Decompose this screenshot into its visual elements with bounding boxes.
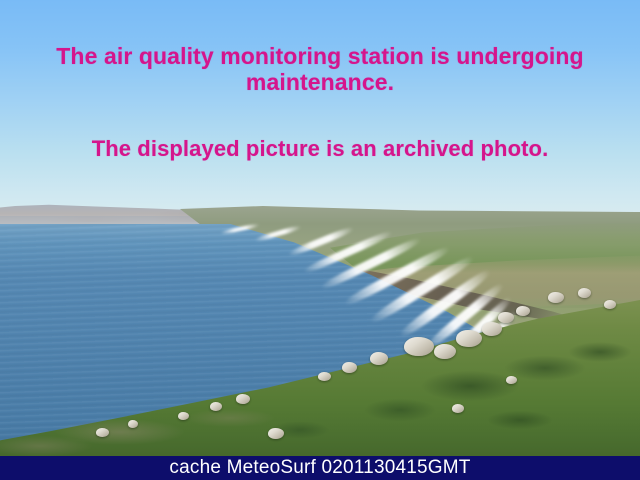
- boulder: [236, 394, 250, 404]
- boulder: [604, 300, 616, 309]
- footer-bar: cache MeteoSurf 0201130415GMT: [0, 456, 640, 480]
- sky: [0, 0, 640, 216]
- boulder: [268, 428, 284, 439]
- boulder: [434, 344, 456, 359]
- boulder: [370, 352, 388, 365]
- boulder: [548, 292, 564, 303]
- boulder: [506, 376, 517, 384]
- boulder: [516, 306, 530, 316]
- boulder: [96, 428, 109, 437]
- boulder: [498, 312, 514, 323]
- boulder: [342, 362, 357, 373]
- webcam-screenshot: The air quality monitoring station is un…: [0, 0, 640, 480]
- boulder: [578, 288, 591, 298]
- boulder: [210, 402, 222, 411]
- maintenance-notice-line-1: The air quality monitoring station is un…: [0, 44, 640, 96]
- boulder: [318, 372, 331, 381]
- cache-timestamp-label: cache MeteoSurf 0201130415GMT: [169, 456, 470, 480]
- boulder: [452, 404, 464, 413]
- boulder: [178, 412, 189, 420]
- boulder: [482, 322, 502, 336]
- boulder: [128, 420, 138, 428]
- archived-photo-notice-line-2: The displayed picture is an archived pho…: [0, 137, 640, 162]
- boulder: [456, 330, 482, 347]
- boulder: [404, 337, 434, 356]
